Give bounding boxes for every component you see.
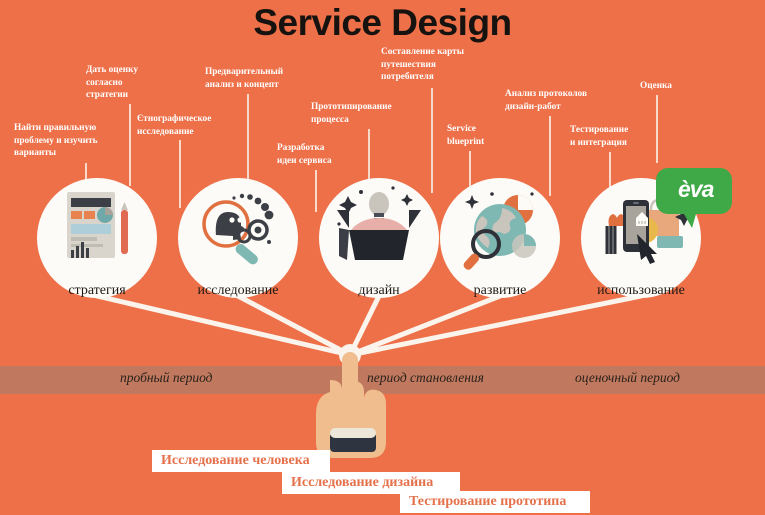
bottom-banner-label-0: Исследование человека [152, 453, 319, 469]
callout-label-2: Єтнографическое исследование [137, 113, 211, 138]
stage-circle-label-0: стратегия [17, 283, 177, 299]
bottom-banner-2[interactable]: Тестирование прототипа [400, 491, 590, 513]
bottom-banner-label-1: Исследование дизайна [282, 475, 442, 491]
period-label-2: оценочный период [575, 370, 680, 386]
stage-circle-label-1: исследование [158, 283, 318, 299]
callout-label-8: Анализ протоколов дизайн-работ [505, 88, 587, 113]
callout-label-5: Прототипирование процесса [311, 101, 392, 126]
period-label-1: период становления [367, 370, 484, 386]
callout-label-4: Разработка идеи сервиса [277, 142, 332, 167]
callout-label-0: Найти правильную проблему и изучить вари… [14, 122, 98, 160]
document-chart-icon [37, 176, 157, 296]
callout-label-9: Тестирование и интеграция [570, 124, 628, 149]
brain-box-bulb-icon [319, 176, 439, 296]
callout-label-7: Service blueprint [447, 123, 484, 148]
stage-circle-label-3: развитие [420, 283, 580, 299]
period-label-0: пробный период [120, 370, 212, 386]
bottom-banner-0[interactable]: Исследование человека [152, 450, 330, 472]
hub-connector-line-1 [238, 296, 350, 355]
callout-label-1: Дать оценку согласно стратегии [86, 64, 138, 102]
bottom-banner-label-2: Тестирование прототипа [400, 494, 575, 510]
stage-circle-label-4: использование [561, 283, 721, 299]
globe-magnifier-icon [440, 176, 560, 296]
eva-logo-text: èva [678, 176, 713, 203]
callout-label-3: Предварительный анализ и концепт [205, 66, 283, 91]
infographic-canvas: Service Design Найти правильную проблему… [0, 0, 765, 515]
hub-connector-line-4 [350, 296, 641, 355]
hub-node [339, 344, 361, 366]
callout-label-10: Оценка [640, 80, 672, 93]
callout-label-6: Составление карты путешествия потребител… [381, 46, 464, 84]
head-magnifier-icon [178, 176, 298, 296]
hub-connector-line-0 [97, 296, 350, 355]
